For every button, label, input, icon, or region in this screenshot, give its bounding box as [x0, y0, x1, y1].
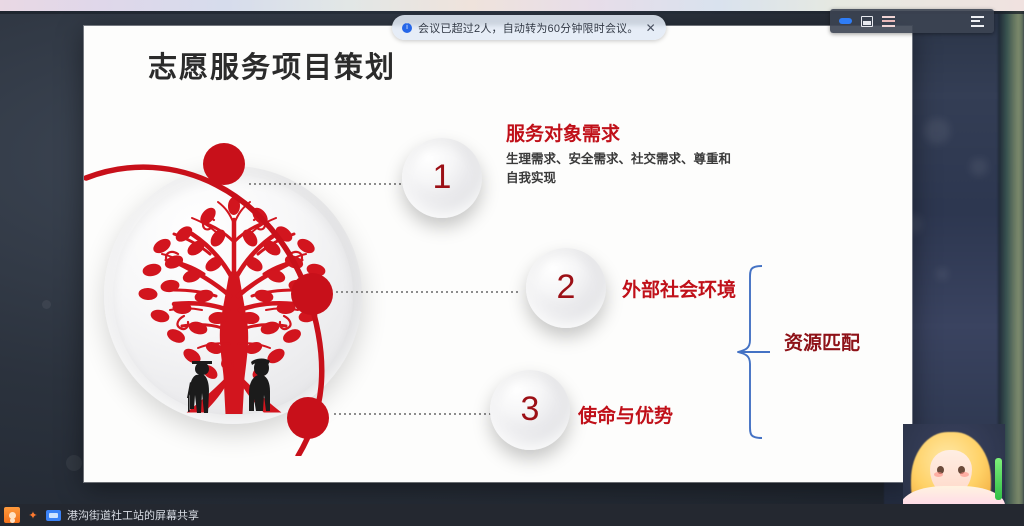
- close-icon[interactable]: ✕: [645, 22, 657, 34]
- presentation-slide: 志愿服务项目策划: [84, 26, 912, 482]
- info-icon: i: [402, 23, 412, 33]
- connector-dotted-1: [249, 183, 401, 185]
- avatar-cheek-left: [934, 472, 943, 477]
- toast-message: 会议已超过2人，自动转为60分钟限时会议。: [418, 20, 639, 36]
- menu-icon[interactable]: [971, 16, 984, 27]
- connector-dotted-2: [336, 291, 518, 293]
- screen-icon[interactable]: [46, 510, 61, 521]
- taskbar-label: 港沟街道社工站的屏幕共享: [67, 507, 199, 523]
- avatar-cheek-right: [960, 472, 969, 477]
- list-icon[interactable]: [882, 16, 895, 27]
- step-circle-3[interactable]: 3: [490, 370, 570, 450]
- share-icon[interactable]: ✦: [26, 508, 40, 522]
- arc-node-1: [203, 143, 245, 185]
- step-number-1: 1: [433, 158, 452, 197]
- bokeh-dot: [66, 455, 82, 471]
- screen-share-toolbar[interactable]: [830, 9, 994, 33]
- signal-bar-icon: [995, 458, 1002, 500]
- arc-node-3: [287, 397, 329, 439]
- brace-label: 资源匹配: [784, 328, 860, 355]
- step-heading-3: 使命与优势: [578, 401, 673, 428]
- connector-dotted-3: [334, 413, 496, 415]
- step-detail-1: 生理需求、安全需求、社交需求、尊重和自我实现: [506, 150, 732, 189]
- arc-node-2: [291, 273, 333, 315]
- pill-toggle-icon[interactable]: [839, 18, 852, 24]
- bokeh-dot: [42, 300, 51, 309]
- step-circle-2[interactable]: 2: [526, 248, 606, 328]
- step-heading-1: 服务对象需求: [506, 119, 620, 146]
- step-heading-2: 外部社会环境: [622, 275, 736, 302]
- step-number-2: 2: [557, 268, 576, 307]
- user-avatar-icon[interactable]: [4, 507, 20, 523]
- step-circle-1[interactable]: 1: [402, 138, 482, 218]
- meeting-toast[interactable]: i 会议已超过2人，自动转为60分钟限时会议。 ✕: [392, 15, 666, 40]
- taskbar: ✦ 港沟街道社工站的屏幕共享: [0, 504, 1024, 526]
- window-icon[interactable]: [861, 16, 873, 27]
- step-number-3: 3: [521, 390, 540, 429]
- page-title: 志愿服务项目策划: [148, 44, 396, 86]
